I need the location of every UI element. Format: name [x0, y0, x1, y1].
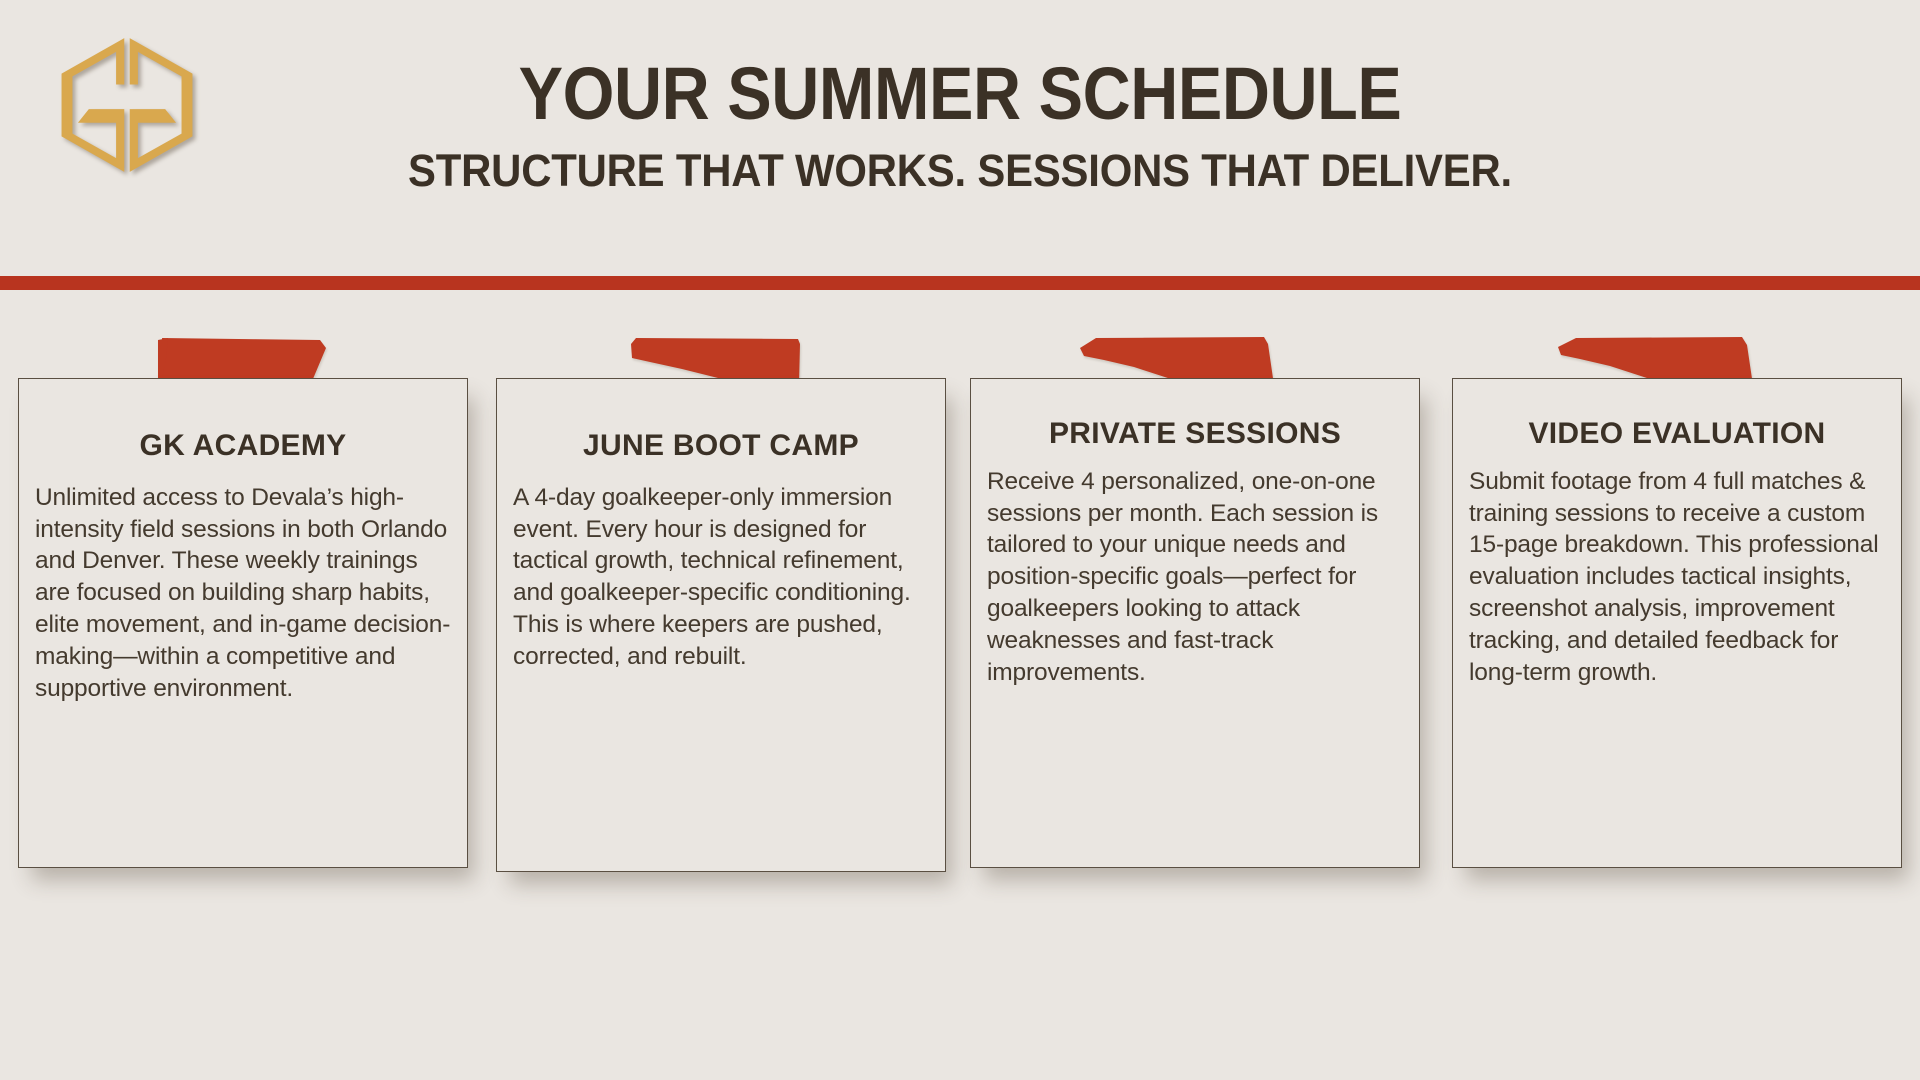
poster-header: YOUR SUMMER SCHEDULE STRUCTURE THAT WORK…: [0, 0, 1920, 282]
header-divider: [0, 276, 1920, 290]
card-title: JUNE BOOT CAMP: [513, 429, 929, 464]
program-card-row: GK ACADEMY Unlimited access to Devala’s …: [0, 310, 1920, 950]
card-body: Unlimited access to Devala’s high-intens…: [35, 482, 451, 705]
header-text-block: YOUR SUMMER SCHEDULE STRUCTURE THAT WORK…: [0, 56, 1920, 198]
program-card-june-boot-camp[interactable]: JUNE BOOT CAMP A 4-day goalkeeper-only i…: [496, 378, 946, 872]
program-card-private-sessions[interactable]: PRIVATE SESSIONS Receive 4 personalized,…: [970, 378, 1420, 868]
poster-canvas: YOUR SUMMER SCHEDULE STRUCTURE THAT WORK…: [0, 0, 1920, 1080]
page-subtitle: STRUCTURE THAT WORKS. SESSIONS THAT DELI…: [67, 144, 1853, 198]
program-card-video-evaluation[interactable]: VIDEO EVALUATION Submit footage from 4 f…: [1452, 378, 1902, 868]
card-body: A 4-day goalkeeper-only immersion event.…: [513, 482, 929, 673]
card-body: Submit footage from 4 full matches & tra…: [1469, 466, 1885, 689]
card-title: VIDEO EVALUATION: [1469, 417, 1885, 452]
program-card-gk-academy[interactable]: GK ACADEMY Unlimited access to Devala’s …: [18, 378, 468, 868]
card-title: PRIVATE SESSIONS: [987, 417, 1403, 452]
card-body: Receive 4 personalized, one-on-one sessi…: [987, 466, 1403, 689]
page-title: YOUR SUMMER SCHEDULE: [96, 56, 1824, 133]
card-title: GK ACADEMY: [35, 429, 451, 464]
